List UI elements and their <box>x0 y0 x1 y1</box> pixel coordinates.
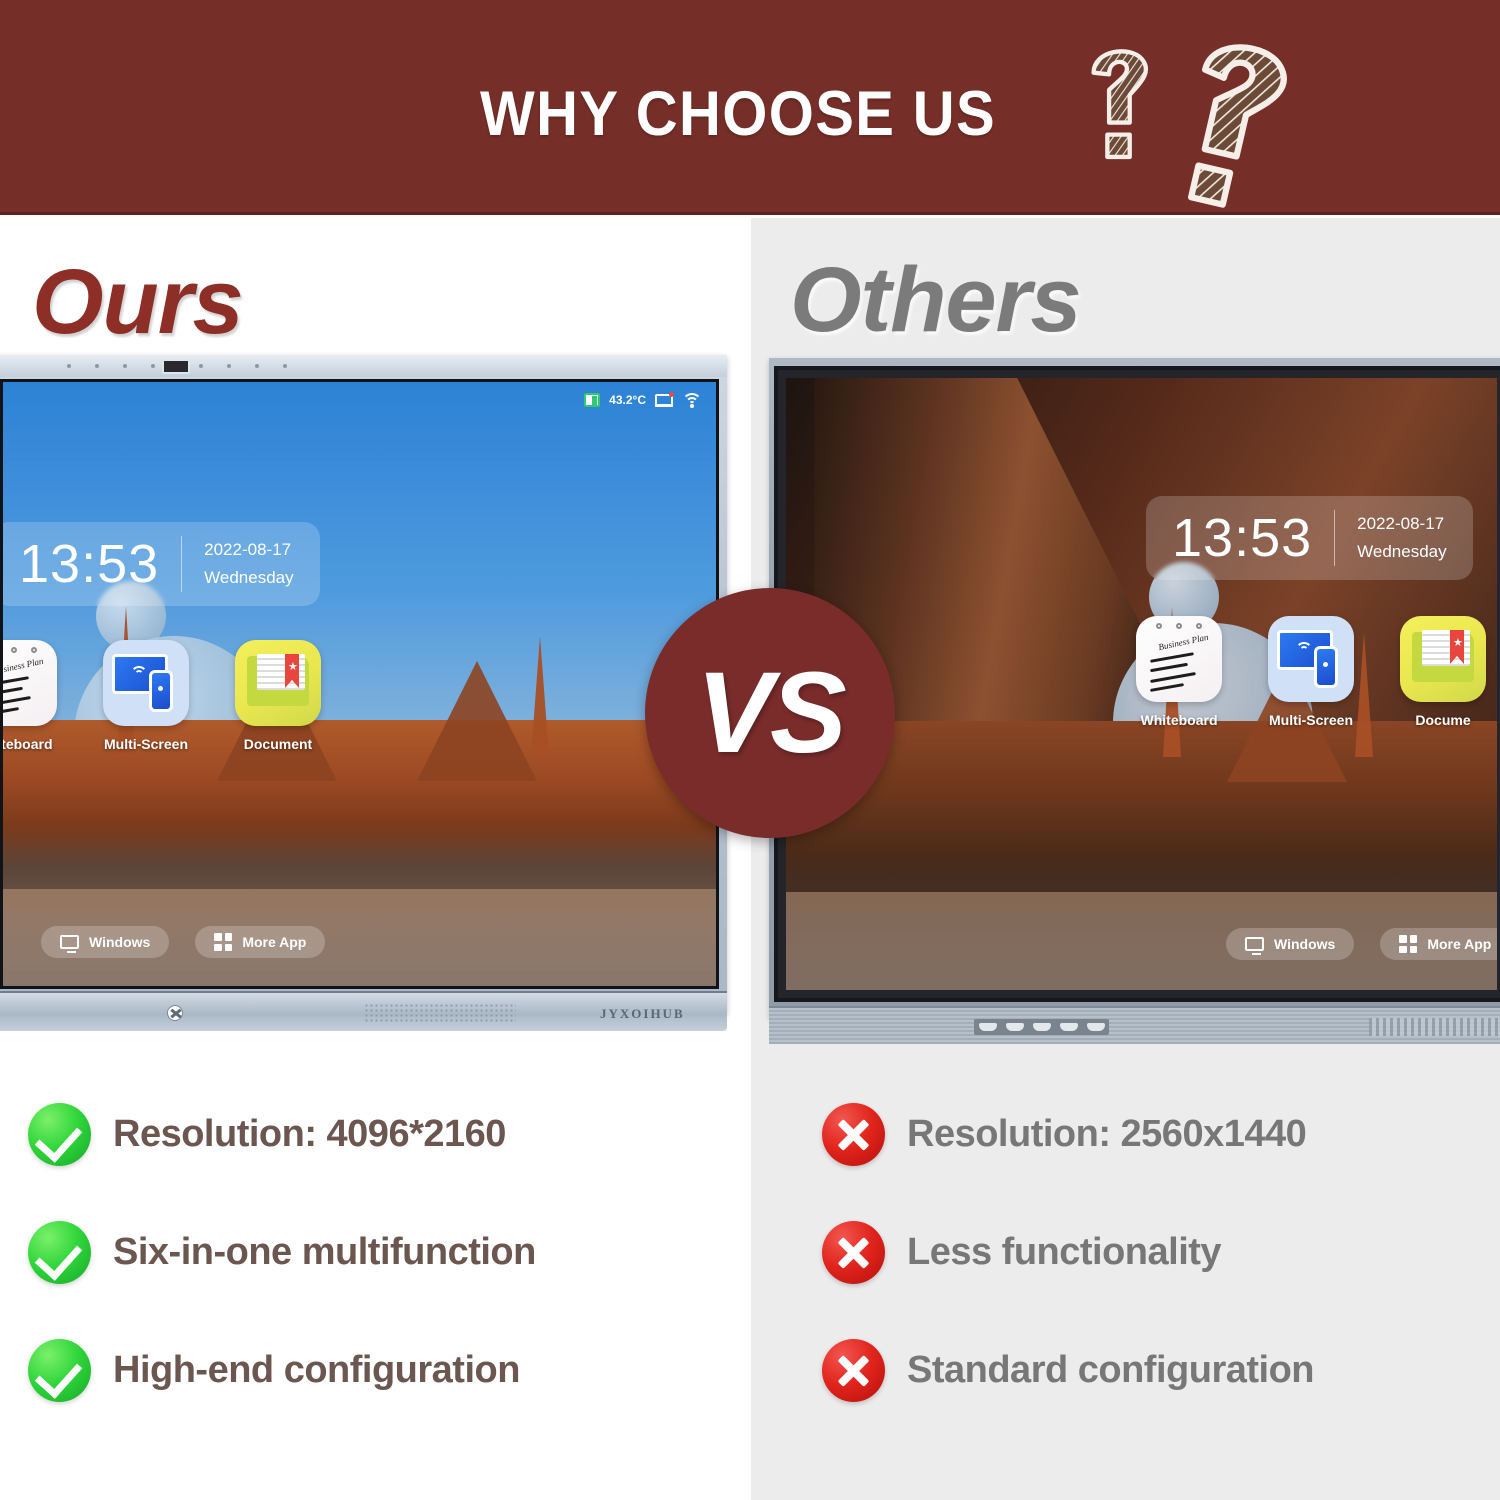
device-bezel: 43.2°C 13:53 2022-08-17 Wednesday <box>0 355 727 1015</box>
more-app-button[interactable]: More App <box>195 926 325 958</box>
taskbar: Windows More App <box>1226 928 1497 960</box>
versus-label: VS <box>696 647 843 779</box>
app-whiteboard[interactable]: Business Plan Whiteboard <box>0 640 57 752</box>
ours-heading: Ours <box>32 250 243 355</box>
others-heading: Others <box>790 248 1081 353</box>
clock-time: 13:53 <box>1172 511 1312 565</box>
status-bar: 43.2°C <box>584 390 702 410</box>
device-bottom-bezel <box>769 1006 1500 1044</box>
whiteboard-icon: Business Plan <box>0 640 57 726</box>
app-row: Business Plan Whiteboard <box>0 640 321 752</box>
app-label: Multi-Screen <box>1268 712 1354 728</box>
screen-cast-icon[interactable] <box>655 394 673 407</box>
feature-text: Six-in-one multifunction <box>113 1231 536 1274</box>
whiteboard-icon: Business Plan <box>1136 616 1222 702</box>
camera-icon <box>162 359 190 374</box>
device-top-bezel <box>0 355 727 377</box>
check-icon <box>28 1221 91 1284</box>
document-icon: ★ <box>235 640 321 726</box>
app-multiscreen[interactable]: Multi-Screen <box>1268 616 1354 728</box>
windows-button[interactable]: Windows <box>41 926 169 958</box>
others-feature-list: Resolution: 2560x1440 Less functionality… <box>822 1095 1314 1449</box>
more-app-label: More App <box>242 934 306 950</box>
feature-text: Resolution: 4096*2160 <box>113 1113 506 1156</box>
clock-date: 2022-08-17 <box>204 536 293 564</box>
check-icon <box>28 1103 91 1166</box>
clock-time: 13:53 <box>19 537 159 591</box>
speaker-grille <box>364 1003 516 1023</box>
taskbar: Windows More App <box>41 926 325 958</box>
feature-row: Six-in-one multifunction <box>28 1213 536 1291</box>
feature-text: Less functionality <box>907 1231 1221 1274</box>
app-row: Business Plan Whiteboard <box>1136 616 1486 728</box>
grid-icon <box>214 933 232 951</box>
brand-label: JYXOIHUB <box>600 1006 685 1022</box>
cross-icon <box>822 1103 885 1166</box>
multiscreen-icon <box>103 640 189 726</box>
cross-icon <box>822 1339 885 1402</box>
header-banner: WHY CHOOSE US <box>0 0 1500 215</box>
grid-icon <box>1399 935 1417 953</box>
power-button-icon[interactable] <box>167 1005 183 1021</box>
device-control-buttons[interactable] <box>974 1019 1109 1035</box>
windows-label: Windows <box>1274 936 1335 952</box>
app-label: Whiteboard <box>1136 712 1222 728</box>
ours-device: 43.2°C 13:53 2022-08-17 Wednesday <box>0 355 727 1045</box>
feature-row: High-end configuration <box>28 1331 536 1409</box>
feature-text: Resolution: 2560x1440 <box>907 1113 1306 1156</box>
document-icon: ★ <box>1400 616 1486 702</box>
app-document[interactable]: ★ Document <box>235 640 321 752</box>
app-label: Docume <box>1400 712 1486 728</box>
windows-label: Windows <box>89 934 150 950</box>
clock-date: 2022-08-17 <box>1357 510 1446 538</box>
versus-badge: VS <box>645 588 895 838</box>
feature-text: High-end configuration <box>113 1349 520 1392</box>
feature-row: Resolution: 4096*2160 <box>28 1095 536 1173</box>
app-whiteboard[interactable]: Business Plan Whiteboard <box>1136 616 1222 728</box>
ours-screen: 43.2°C 13:53 2022-08-17 Wednesday <box>0 379 719 989</box>
check-icon <box>28 1339 91 1402</box>
clock-weekday: Wednesday <box>1357 538 1446 566</box>
others-screen: 13:53 2022-08-17 Wednesday <box>786 378 1497 990</box>
panel-divider <box>745 218 751 1500</box>
monitor-icon <box>1245 937 1264 951</box>
page-title: WHY CHOOSE US <box>480 78 996 150</box>
app-label: Document <box>235 736 321 752</box>
feature-row: Standard configuration <box>822 1331 1314 1409</box>
vent-grille <box>1369 1018 1500 1036</box>
feature-text: Standard configuration <box>907 1349 1314 1392</box>
cross-icon <box>822 1221 885 1284</box>
app-multiscreen[interactable]: Multi-Screen <box>103 640 189 752</box>
app-label: Whiteboard <box>0 736 57 752</box>
more-app-button[interactable]: More App <box>1380 928 1497 960</box>
ours-feature-list: Resolution: 4096*2160 Six-in-one multifu… <box>28 1095 536 1449</box>
temperature-icon <box>584 393 600 407</box>
windows-button[interactable]: Windows <box>1226 928 1354 960</box>
multiscreen-icon <box>1268 616 1354 702</box>
temperature-value: 43.2°C <box>609 393 646 407</box>
clock-widget: 13:53 2022-08-17 Wednesday <box>0 522 320 606</box>
clock-weekday: Wednesday <box>204 564 293 592</box>
feature-row: Resolution: 2560x1440 <box>822 1095 1314 1173</box>
more-app-label: More App <box>1427 936 1491 952</box>
app-document[interactable]: ★ Docume <box>1400 616 1486 728</box>
monitor-icon <box>60 935 79 949</box>
app-label: Multi-Screen <box>103 736 189 752</box>
wifi-icon[interactable] <box>682 393 702 408</box>
question-marks-icon <box>1065 18 1365 218</box>
device-bottom-bezel: JYXOIHUB <box>0 991 727 1031</box>
feature-row: Less functionality <box>822 1213 1314 1291</box>
clock-widget: 13:53 2022-08-17 Wednesday <box>1146 496 1473 580</box>
